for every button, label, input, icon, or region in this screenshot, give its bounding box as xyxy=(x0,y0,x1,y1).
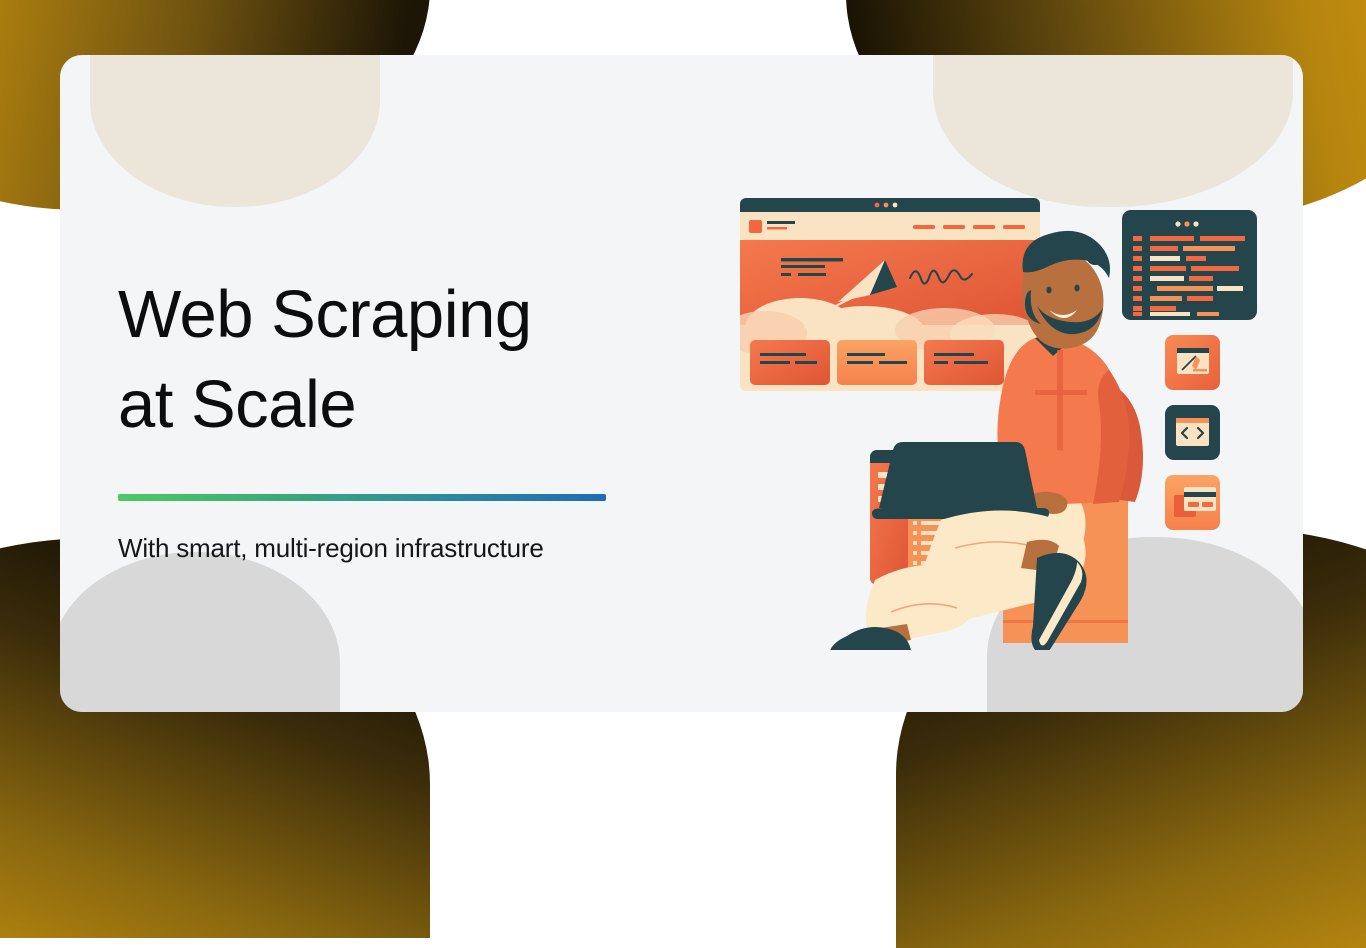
developer-illustration xyxy=(705,150,1285,650)
light-lobe-top-left xyxy=(90,55,380,207)
browser-window-mockup xyxy=(723,198,1040,391)
code-editor-window xyxy=(1122,210,1257,320)
light-lobe-bottom-left xyxy=(60,552,340,712)
slide-card: Web Scraping at Scale With smart, multi-… xyxy=(60,55,1303,712)
gradient-divider xyxy=(118,494,606,501)
icon-card-payment xyxy=(1165,475,1220,530)
headline-block: Web Scraping at Scale With smart, multi-… xyxy=(118,270,698,564)
page-subtitle: With smart, multi-region infrastructure xyxy=(118,533,698,564)
icon-card-design xyxy=(1165,335,1220,390)
icon-card-code xyxy=(1165,405,1220,460)
page-title: Web Scraping at Scale xyxy=(118,270,698,450)
